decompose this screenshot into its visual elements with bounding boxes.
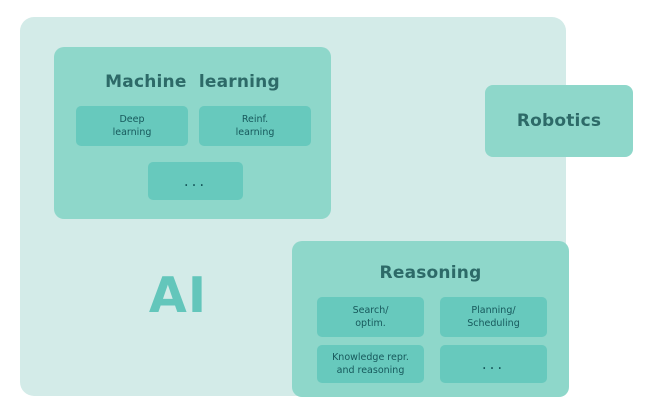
group-title-machine-learning: Machine learning (54, 72, 331, 92)
leaf-box-reinf-learning[interactable]: Reinf. learning (199, 106, 311, 146)
ai-container: AI Machine learning Deep learning Reinf.… (20, 17, 566, 396)
group-title-robotics: Robotics (485, 85, 633, 157)
leaf-box-deep-learning[interactable]: Deep learning (76, 106, 188, 146)
leaf-box-reasoning-more[interactable]: ... (440, 345, 547, 383)
leaf-box-machine-learning-more[interactable]: ... (148, 162, 243, 200)
group-panel-robotics[interactable]: Robotics (485, 85, 633, 157)
ai-root-label: AI (123, 265, 233, 327)
leaf-box-knowledge-repr-and-reasoning[interactable]: Knowledge repr. and reasoning (317, 345, 424, 383)
group-panel-reasoning[interactable]: Reasoning Search/ optim. Planning/ Sched… (292, 241, 569, 397)
group-panel-machine-learning[interactable]: Machine learning Deep learning Reinf. le… (54, 47, 331, 219)
leaf-box-search-optim[interactable]: Search/ optim. (317, 297, 424, 337)
diagram-canvas: AI Machine learning Deep learning Reinf.… (0, 0, 656, 409)
leaf-box-planning-scheduling[interactable]: Planning/ Scheduling (440, 297, 547, 337)
group-title-reasoning: Reasoning (292, 263, 569, 283)
